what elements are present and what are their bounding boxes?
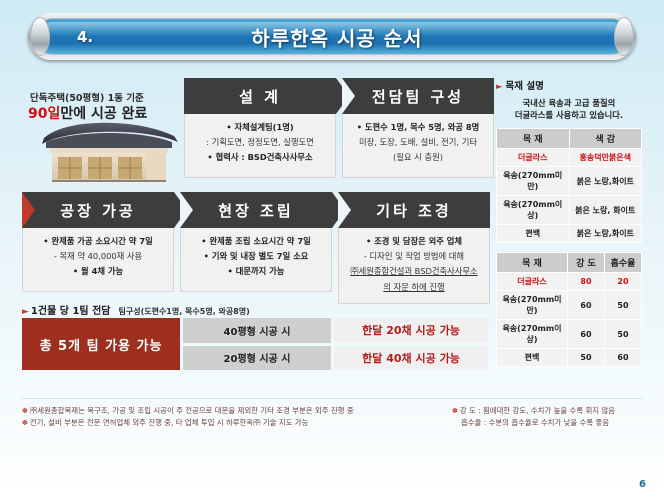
process-factory-line: • 월 4채 가능 — [28, 266, 168, 277]
process-design-line: • 자체설계팀(1명) — [190, 122, 330, 133]
triangle-bullet-icon: ► — [22, 307, 29, 317]
process-landscape-line: • 조경 및 담장은 외주 업체 — [344, 236, 484, 247]
footnotes-left: ✽㈜세원종합목재는 목구조, 가공 및 조립 시공이 주 전공으로 대문을 제외… — [22, 405, 442, 428]
table-header-row: 목 재 색 감 — [497, 129, 642, 149]
footnote-text: 흡수율 : 수분의 흡수율로 수치가 낮을 수록 좋음 — [452, 417, 609, 428]
process-assembly-line: • 대문까지 가능 — [186, 266, 326, 277]
process-assembly-line: • 기와 및 내장 별도 7일 소요 — [186, 251, 326, 262]
wood-spec-header: 흡수율 — [605, 253, 642, 273]
wood-spec-cell: 80 — [568, 273, 605, 291]
wood-color-table: 목 재 색 감 더글라스 홍송덕만붉은색 육송(270mm미만) 붉은 노랑,화… — [496, 128, 642, 243]
process-landscape-header: 기타 조경 — [338, 192, 490, 228]
table-row: 편백 50 60 — [497, 349, 642, 367]
process-team-title: 전담팀 구성 — [372, 86, 464, 107]
process-design-line: : 기획도면, 정정도면, 실행도면 — [190, 137, 330, 148]
process-landscape-line: - 디자인 및 작업 방법에 대해 — [344, 251, 484, 262]
chevron-notch-icon — [338, 192, 351, 228]
wood-panel-description-line1: 국내산 육송과 고급 품질의 — [496, 97, 642, 109]
wood-color-cell: 육송(270mm이상) — [497, 196, 570, 225]
slide-title-inner: 4. 하루한옥 시공 순서 — [34, 18, 630, 55]
wood-spec-cell: 50 — [605, 291, 642, 320]
process-factory-line: - 목재 약 40,000재 사용 — [28, 251, 168, 262]
triangle-start-icon — [22, 192, 35, 228]
asterisk-icon: ✽ — [22, 419, 28, 427]
footnote-text: 전기, 설비 부분은 전문 면허업체 외주 진행 중, 타 업체 투입 시 하루… — [30, 418, 309, 427]
footnote-divider — [22, 398, 642, 399]
wood-color-cell: 홍송덕만붉은색 — [569, 149, 642, 167]
wood-color-header: 목 재 — [497, 129, 570, 149]
hero-caption-line2: 90일만에 시공 완료 — [28, 103, 147, 123]
footnote-text: 강 도 : 휨에대한 강도, 수치가 높을 수록 휘지 않음 — [460, 406, 615, 415]
team-capacity-value: 한달 40채 시공 가능 — [334, 346, 488, 371]
team-capacity-label: 20평형 시공 시 — [183, 346, 331, 371]
footnote-item: ✽전기, 설비 부분은 전문 면허업체 외주 진행 중, 타 업체 투입 시 하… — [22, 417, 442, 429]
wood-spec-cell: 20 — [605, 273, 642, 291]
table-row: 육송(270mm미만) 60 50 — [497, 291, 642, 320]
process-factory-line: • 완제품 가공 소요시간 약 7일 — [28, 236, 168, 247]
hero-caption-line1: 단독주택(50평형) 1동 기준 — [30, 90, 144, 104]
team-capacity-badge: 총 5개 팀 가용 가능 — [22, 318, 180, 370]
wood-color-cell: 붉은 노랑, 화이트 — [569, 196, 642, 225]
footnote-item: ✽㈜세원종합목재는 목구조, 가공 및 조립 시공이 주 전공으로 대문을 제외… — [22, 405, 442, 417]
wood-spec-header: 목 재 — [497, 253, 568, 273]
table-row: 20평형 시공 시 한달 40채 시공 가능 — [183, 346, 488, 371]
team-capacity-heading-text: 1건물 당 1팀 전담 — [31, 306, 111, 317]
left-column: 단독주택(50평형) 1동 기준 90일만에 시공 완료 설 계 • 자체설계팀… — [22, 70, 488, 182]
process-assembly-body: • 완제품 조립 소요시간 약 7일 • 기와 및 내장 별도 7일 소요 • … — [180, 228, 332, 292]
wood-spec-cell: 더글라스 — [497, 273, 568, 291]
wood-color-cell: 붉은 노랑,화이트 — [569, 225, 642, 243]
team-capacity-grid: 총 5개 팀 가용 가능 40평형 시공 시 한달 20채 시공 가능 20평형… — [22, 318, 488, 370]
wood-color-header: 색 감 — [569, 129, 642, 149]
process-design-body: • 자체설계팀(1명) : 기획도면, 정정도면, 실행도면 • 협력사 : B… — [184, 114, 336, 178]
hero-caption-rest: 만에 시공 완료 — [60, 106, 147, 122]
slide-content: 단독주택(50평형) 1동 기준 90일만에 시공 완료 설 계 • 자체설계팀… — [22, 70, 642, 460]
wood-color-cell: 붉은 노랑,화이트 — [569, 167, 642, 196]
wood-spec-cell: 육송(270mm미만) — [497, 291, 568, 320]
process-box-team: 전담팀 구성 • 도편수 1명, 목수 5명, 와공 8명 미장, 도장, 도배… — [342, 78, 494, 178]
process-assembly-line: • 완제품 조립 소요시간 약 7일 — [186, 236, 326, 247]
process-box-assembly: 현장 조립 • 완제품 조립 소요시간 약 7일 • 기와 및 내장 별도 7일… — [180, 192, 332, 292]
team-capacity-label: 40평형 시공 시 — [183, 318, 331, 343]
process-landscape-line: ㈜세원종합건설과 BSD건축사사무소 — [344, 266, 484, 277]
process-design-header: 설 계 — [184, 78, 336, 114]
process-factory-body: • 완제품 가공 소요시간 약 7일 - 목재 약 40,000재 사용 • 월… — [22, 228, 174, 292]
process-box-landscape: 기타 조경 • 조경 및 담장은 외주 업체 - 디자인 및 작업 방법에 대해… — [338, 192, 490, 304]
footnote-item: ✽강 도 : 휨에대한 강도, 수치가 높을 수록 휘지 않음 — [452, 405, 652, 417]
chevron-notch-icon — [342, 78, 355, 114]
wood-panel-title: ►목재 설명 — [496, 78, 642, 92]
asterisk-icon: ✽ — [22, 407, 28, 415]
process-team-line: 미장, 도장, 도배, 설비, 전기, 기타 — [348, 137, 488, 148]
wood-spec-header: 강 도 — [568, 253, 605, 273]
page-title: 하루한옥 시공 순서 — [35, 22, 629, 51]
process-factory-header: 공장 가공 — [22, 192, 174, 228]
table-row: 육송(270mm미만) 붉은 노랑,화이트 — [497, 167, 642, 196]
process-team-body: • 도편수 1명, 목수 5명, 와공 8명 미장, 도장, 도배, 설비, 전… — [342, 114, 494, 178]
process-landscape-body: • 조경 및 담장은 외주 업체 - 디자인 및 작업 방법에 대해 ㈜세원종합… — [338, 228, 490, 304]
team-capacity-heading-note: 팀구성(도편수1명, 목수5명, 와공8명) — [118, 307, 249, 316]
process-assembly-title: 현장 조립 — [218, 200, 293, 221]
table-row: 40평형 시공 시 한달 20채 시공 가능 — [183, 318, 488, 343]
asterisk-icon: ✽ — [452, 407, 458, 415]
process-box-design: 설 계 • 자체설계팀(1명) : 기획도면, 정정도면, 실행도면 • 협력사… — [184, 78, 336, 178]
wood-spec-table: 목 재 강 도 흡수율 더글라스 80 20 육송(270mm미만) 60 50 — [496, 252, 642, 367]
slide-root: 4. 하루한옥 시공 순서 — [0, 0, 664, 498]
chevron-notch-icon — [180, 192, 193, 228]
table-row: 육송(270mm이상) 60 50 — [497, 320, 642, 349]
hero-highlight-days: 90일 — [28, 106, 60, 122]
wood-spec-cell: 60 — [568, 320, 605, 349]
wood-panel-description-line2: 더글라스를 사용하고 있습니다. — [496, 109, 642, 121]
process-team-header: 전담팀 구성 — [342, 78, 494, 114]
footnote-item: 흡수율 : 수분의 흡수율로 수치가 낮을 수록 좋음 — [452, 417, 652, 428]
team-capacity-value: 한달 20채 시공 가능 — [334, 318, 488, 343]
page-number: 6 — [639, 479, 646, 490]
process-factory-title: 공장 가공 — [60, 200, 135, 221]
process-box-factory: 공장 가공 • 완제품 가공 소요시간 약 7일 - 목재 약 40,000재 … — [22, 192, 174, 292]
hero-row: 단독주택(50평형) 1동 기준 90일만에 시공 완료 설 계 • 자체설계팀… — [22, 70, 488, 182]
triangle-bullet-icon: ► — [496, 82, 503, 92]
process-design-line: • 협력사 : BSD건축사사무소 — [190, 152, 330, 163]
slide-title-bar: 4. 하루한옥 시공 순서 — [28, 13, 636, 60]
table-header-row: 목 재 강 도 흡수율 — [497, 253, 642, 273]
process-landscape-title: 기타 조경 — [376, 200, 451, 221]
process-landscape-line-underlined: ㈜세원종합건설과 BSD건축사사무소 — [350, 266, 477, 276]
process-assembly-header: 현장 조립 — [180, 192, 332, 228]
table-row: 육송(270mm이상) 붉은 노랑, 화이트 — [497, 196, 642, 225]
table-row: 더글라스 80 20 — [497, 273, 642, 291]
wood-spec-cell: 편백 — [497, 349, 568, 367]
process-team-line: (필요 시 충원) — [348, 152, 488, 163]
wood-spec-cell: 60 — [568, 291, 605, 320]
wood-color-cell: 편백 — [497, 225, 570, 243]
team-capacity-heading: ►1건물 당 1팀 전담팀구성(도편수1명, 목수5명, 와공8명) — [22, 302, 250, 317]
wood-spec-cell: 50 — [568, 349, 605, 367]
team-capacity-rows: 40평형 시공 시 한달 20채 시공 가능 20평형 시공 시 한달 40채 … — [183, 318, 488, 370]
wood-spec-cell: 육송(270mm이상) — [497, 320, 568, 349]
footnotes-right: ✽강 도 : 휨에대한 강도, 수치가 높을 수록 휘지 않음 흡수율 : 수분… — [452, 405, 652, 428]
wood-panel-title-text: 목재 설명 — [506, 81, 544, 92]
process-design-title: 설 계 — [239, 86, 281, 107]
wood-color-cell: 육송(270mm미만) — [497, 167, 570, 196]
process-landscape-line: 의 자문 하에 진행 — [344, 282, 484, 293]
wood-spec-cell: 60 — [605, 349, 642, 367]
footnote-text: ㈜세원종합목재는 목구조, 가공 및 조립 시공이 주 전공으로 대문을 제외한… — [30, 406, 354, 415]
wood-spec-cell: 50 — [605, 320, 642, 349]
table-row: 더글라스 홍송덕만붉은색 — [497, 149, 642, 167]
process-landscape-line-underlined: 의 자문 하에 진행 — [383, 282, 444, 292]
table-row: 편백 붉은 노랑,화이트 — [497, 225, 642, 243]
wood-panel-description: 국내산 육송과 고급 품질의 더글라스를 사용하고 있습니다. — [496, 97, 642, 121]
process-team-line: • 도편수 1명, 목수 5명, 와공 8명 — [348, 122, 488, 133]
wood-panel: ►목재 설명 국내산 육송과 고급 품질의 더글라스를 사용하고 있습니다. 목… — [496, 78, 642, 376]
wood-color-cell: 더글라스 — [497, 149, 570, 167]
hanok-photo — [22, 70, 182, 182]
